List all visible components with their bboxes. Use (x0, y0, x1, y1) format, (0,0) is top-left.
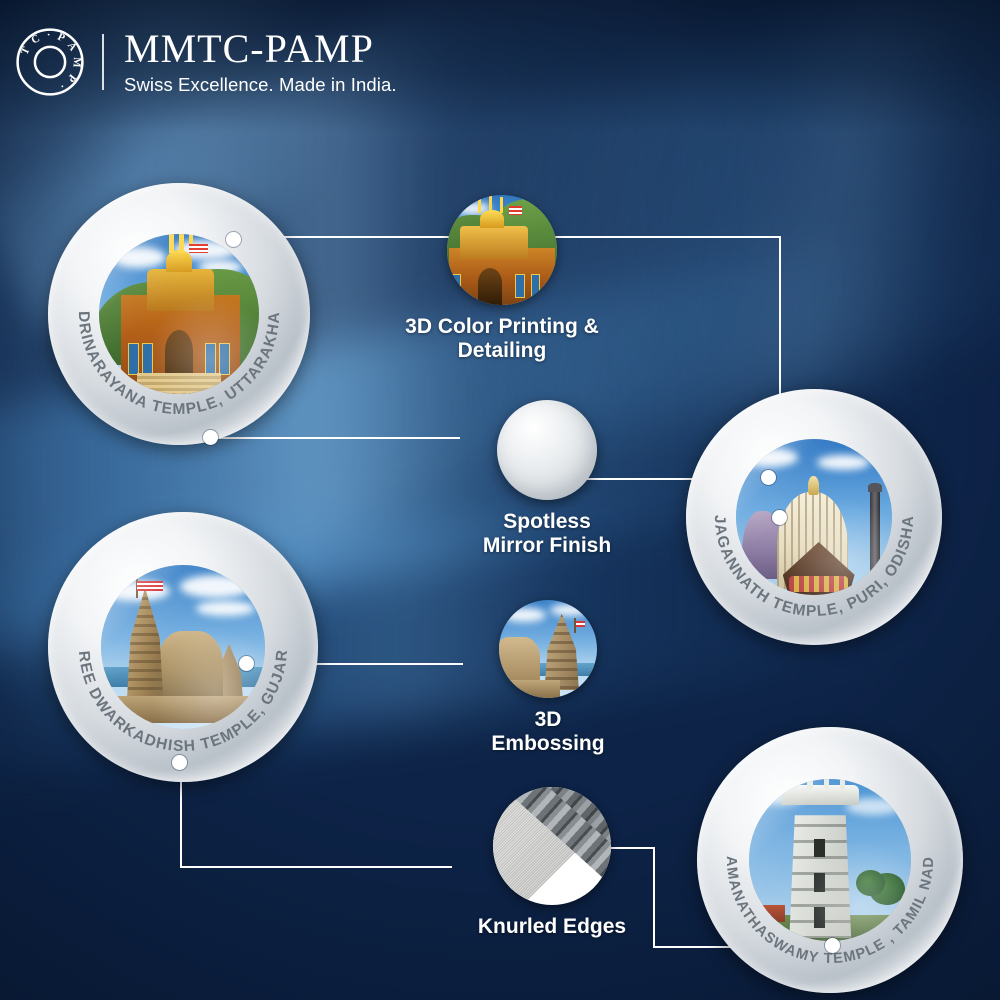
mmtc-pamp-logo-icon: M M T C · P A M P · (14, 26, 86, 98)
connector-badrinarayana-to-mirror (210, 437, 460, 439)
coin-badrinarayana[interactable]: BADRINARAYANA TEMPLE, UTTARAKHAND (48, 183, 310, 445)
coin-face-artwork (99, 234, 259, 394)
feature-label-knurled-edges: Knurled Edges (478, 915, 626, 939)
coin-ramanathaswamy[interactable]: RAMANATHASWAMY TEMPLE , TAMIL NADU (697, 727, 963, 993)
coin-face-artwork (736, 439, 892, 595)
brand-name: MMTC-PAMP (124, 29, 397, 69)
coin-face-artwork (101, 565, 266, 730)
feature-embossing[interactable]: 3D Embossing (455, 600, 641, 755)
hotspot-jagannath-left[interactable] (761, 470, 776, 485)
brand-tagline: Swiss Excellence. Made in India. (124, 76, 397, 95)
feature-label-color-printing: 3D Color Printing & Detailing (405, 315, 599, 362)
brand-text-block: MMTC-PAMP Swiss Excellence. Made in Indi… (124, 29, 397, 95)
brand-header: M M T C · P A M P · MMTC-PAMP Swiss Exce… (14, 26, 397, 98)
hotspot-ramanathaswamy-bottom[interactable] (825, 938, 840, 953)
feature-thumb-embossing (499, 600, 597, 698)
coin-jagannath[interactable]: JAGANNATH TEMPLE, PURI, ODISHA (686, 389, 942, 645)
feature-knurled-edges[interactable]: Knurled Edges (437, 787, 667, 939)
feature-thumb-knurled-edges (493, 787, 611, 905)
logo-divider (102, 34, 104, 90)
feature-thumb-mirror-finish (497, 400, 597, 500)
coin-dwarkadhish[interactable]: SHREE DWARKADHISH TEMPLE, GUJARAT (48, 512, 318, 782)
hotspot-dwarkadhish-right[interactable] (239, 656, 254, 671)
coin-face-artwork (749, 779, 911, 941)
feature-mirror-finish[interactable]: Spotless Mirror Finish (447, 400, 647, 557)
hotspot-badrinarayana-top[interactable] (226, 232, 241, 247)
connector-dwarkadhish-to-knurled (180, 866, 452, 868)
feature-thumb-color-printing (447, 195, 557, 305)
hotspot-jagannath-inner[interactable] (772, 510, 787, 525)
poster-canvas: M M T C · P A M P · MMTC-PAMP Swiss Exce… (0, 0, 1000, 1000)
feature-color-printing[interactable]: 3D Color Printing & Detailing (391, 195, 613, 362)
hotspot-badrinarayana-bottom[interactable] (203, 430, 218, 445)
hotspot-dwarkadhish-bottom[interactable] (172, 755, 187, 770)
feature-label-embossing: 3D Embossing (491, 708, 604, 755)
feature-label-mirror-finish: Spotless Mirror Finish (483, 510, 611, 557)
